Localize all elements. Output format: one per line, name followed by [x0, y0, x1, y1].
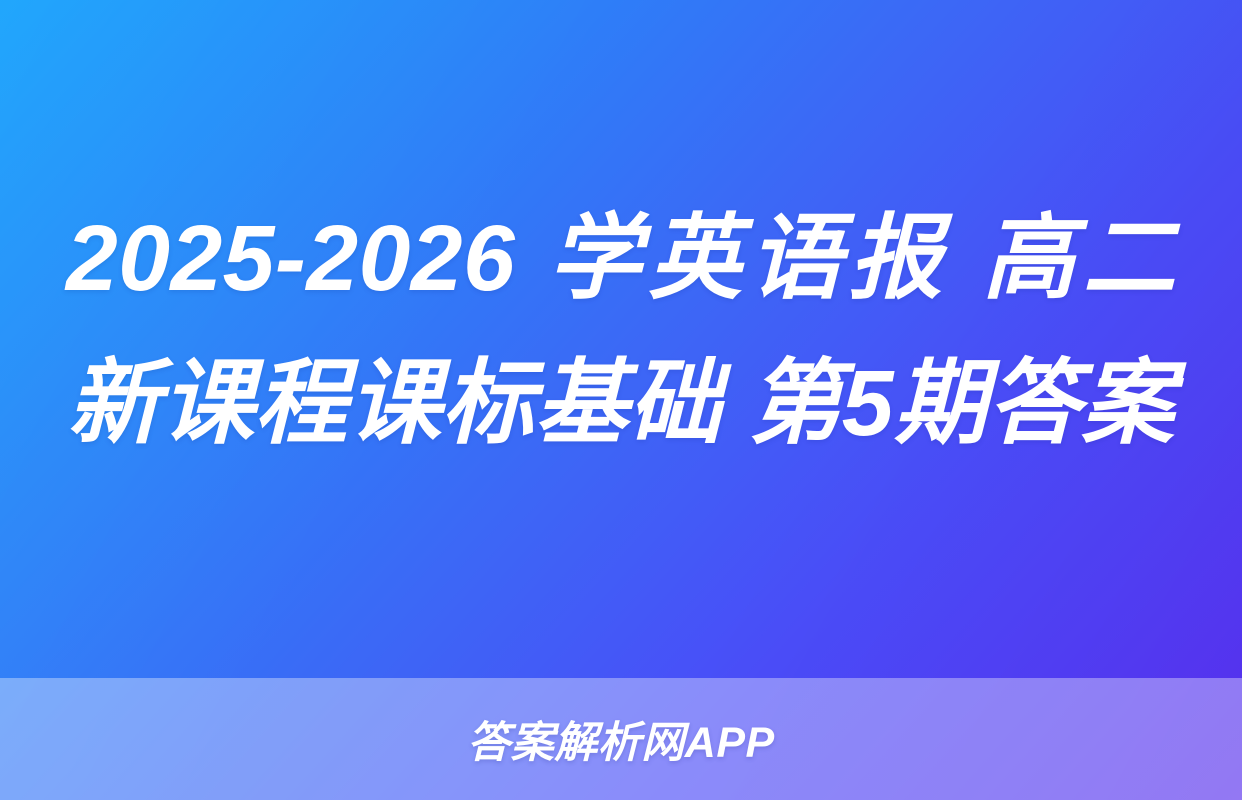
answer-poster-banner: 2025-2026 学英语报 高二 新课程课标基础 第5期答案 答案解析网APP: [0, 0, 1242, 800]
poster-title-block: 2025-2026 学英语报 高二 新课程课标基础 第5期答案: [66, 186, 1176, 476]
app-brand-label: 答案解析网APP: [467, 708, 774, 770]
page-title: 2025-2026 学英语报 高二 新课程课标基础 第5期答案: [66, 186, 1176, 476]
app-brand-bar[interactable]: 答案解析网APP: [0, 678, 1242, 800]
